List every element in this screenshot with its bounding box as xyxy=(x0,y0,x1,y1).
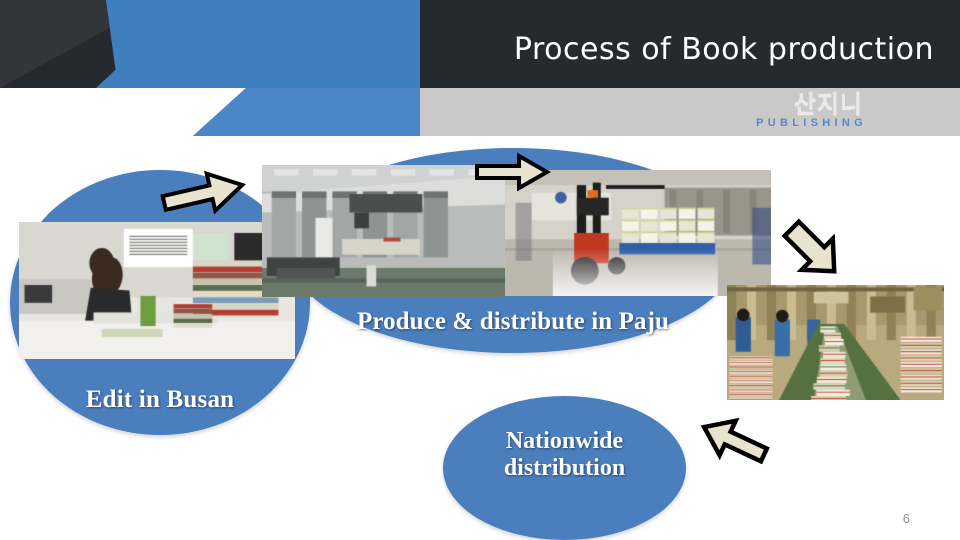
brand-logo-subtitle: PUBLISHING xyxy=(756,118,867,129)
stage-ellipse-nationwide xyxy=(443,396,686,540)
slide-number: 6 xyxy=(903,511,910,526)
arrow-paju-to-distribution-icon xyxy=(777,214,849,286)
brand-logo-mark: 산지니 xyxy=(756,92,863,116)
presentation-slide: Process of Book production 산지니 PUBLISHIN… xyxy=(0,0,960,540)
warehouse-forklift-photo xyxy=(505,170,771,296)
printing-press-photo xyxy=(262,165,505,297)
distribution-center-photo xyxy=(727,285,944,400)
arrow-distribution-to-nationwide-icon xyxy=(693,410,775,472)
editor-at-desk-photo xyxy=(19,222,295,359)
page-title: Process of Book production xyxy=(514,32,934,67)
brand-logo: 산지니 PUBLISHING xyxy=(756,92,863,129)
